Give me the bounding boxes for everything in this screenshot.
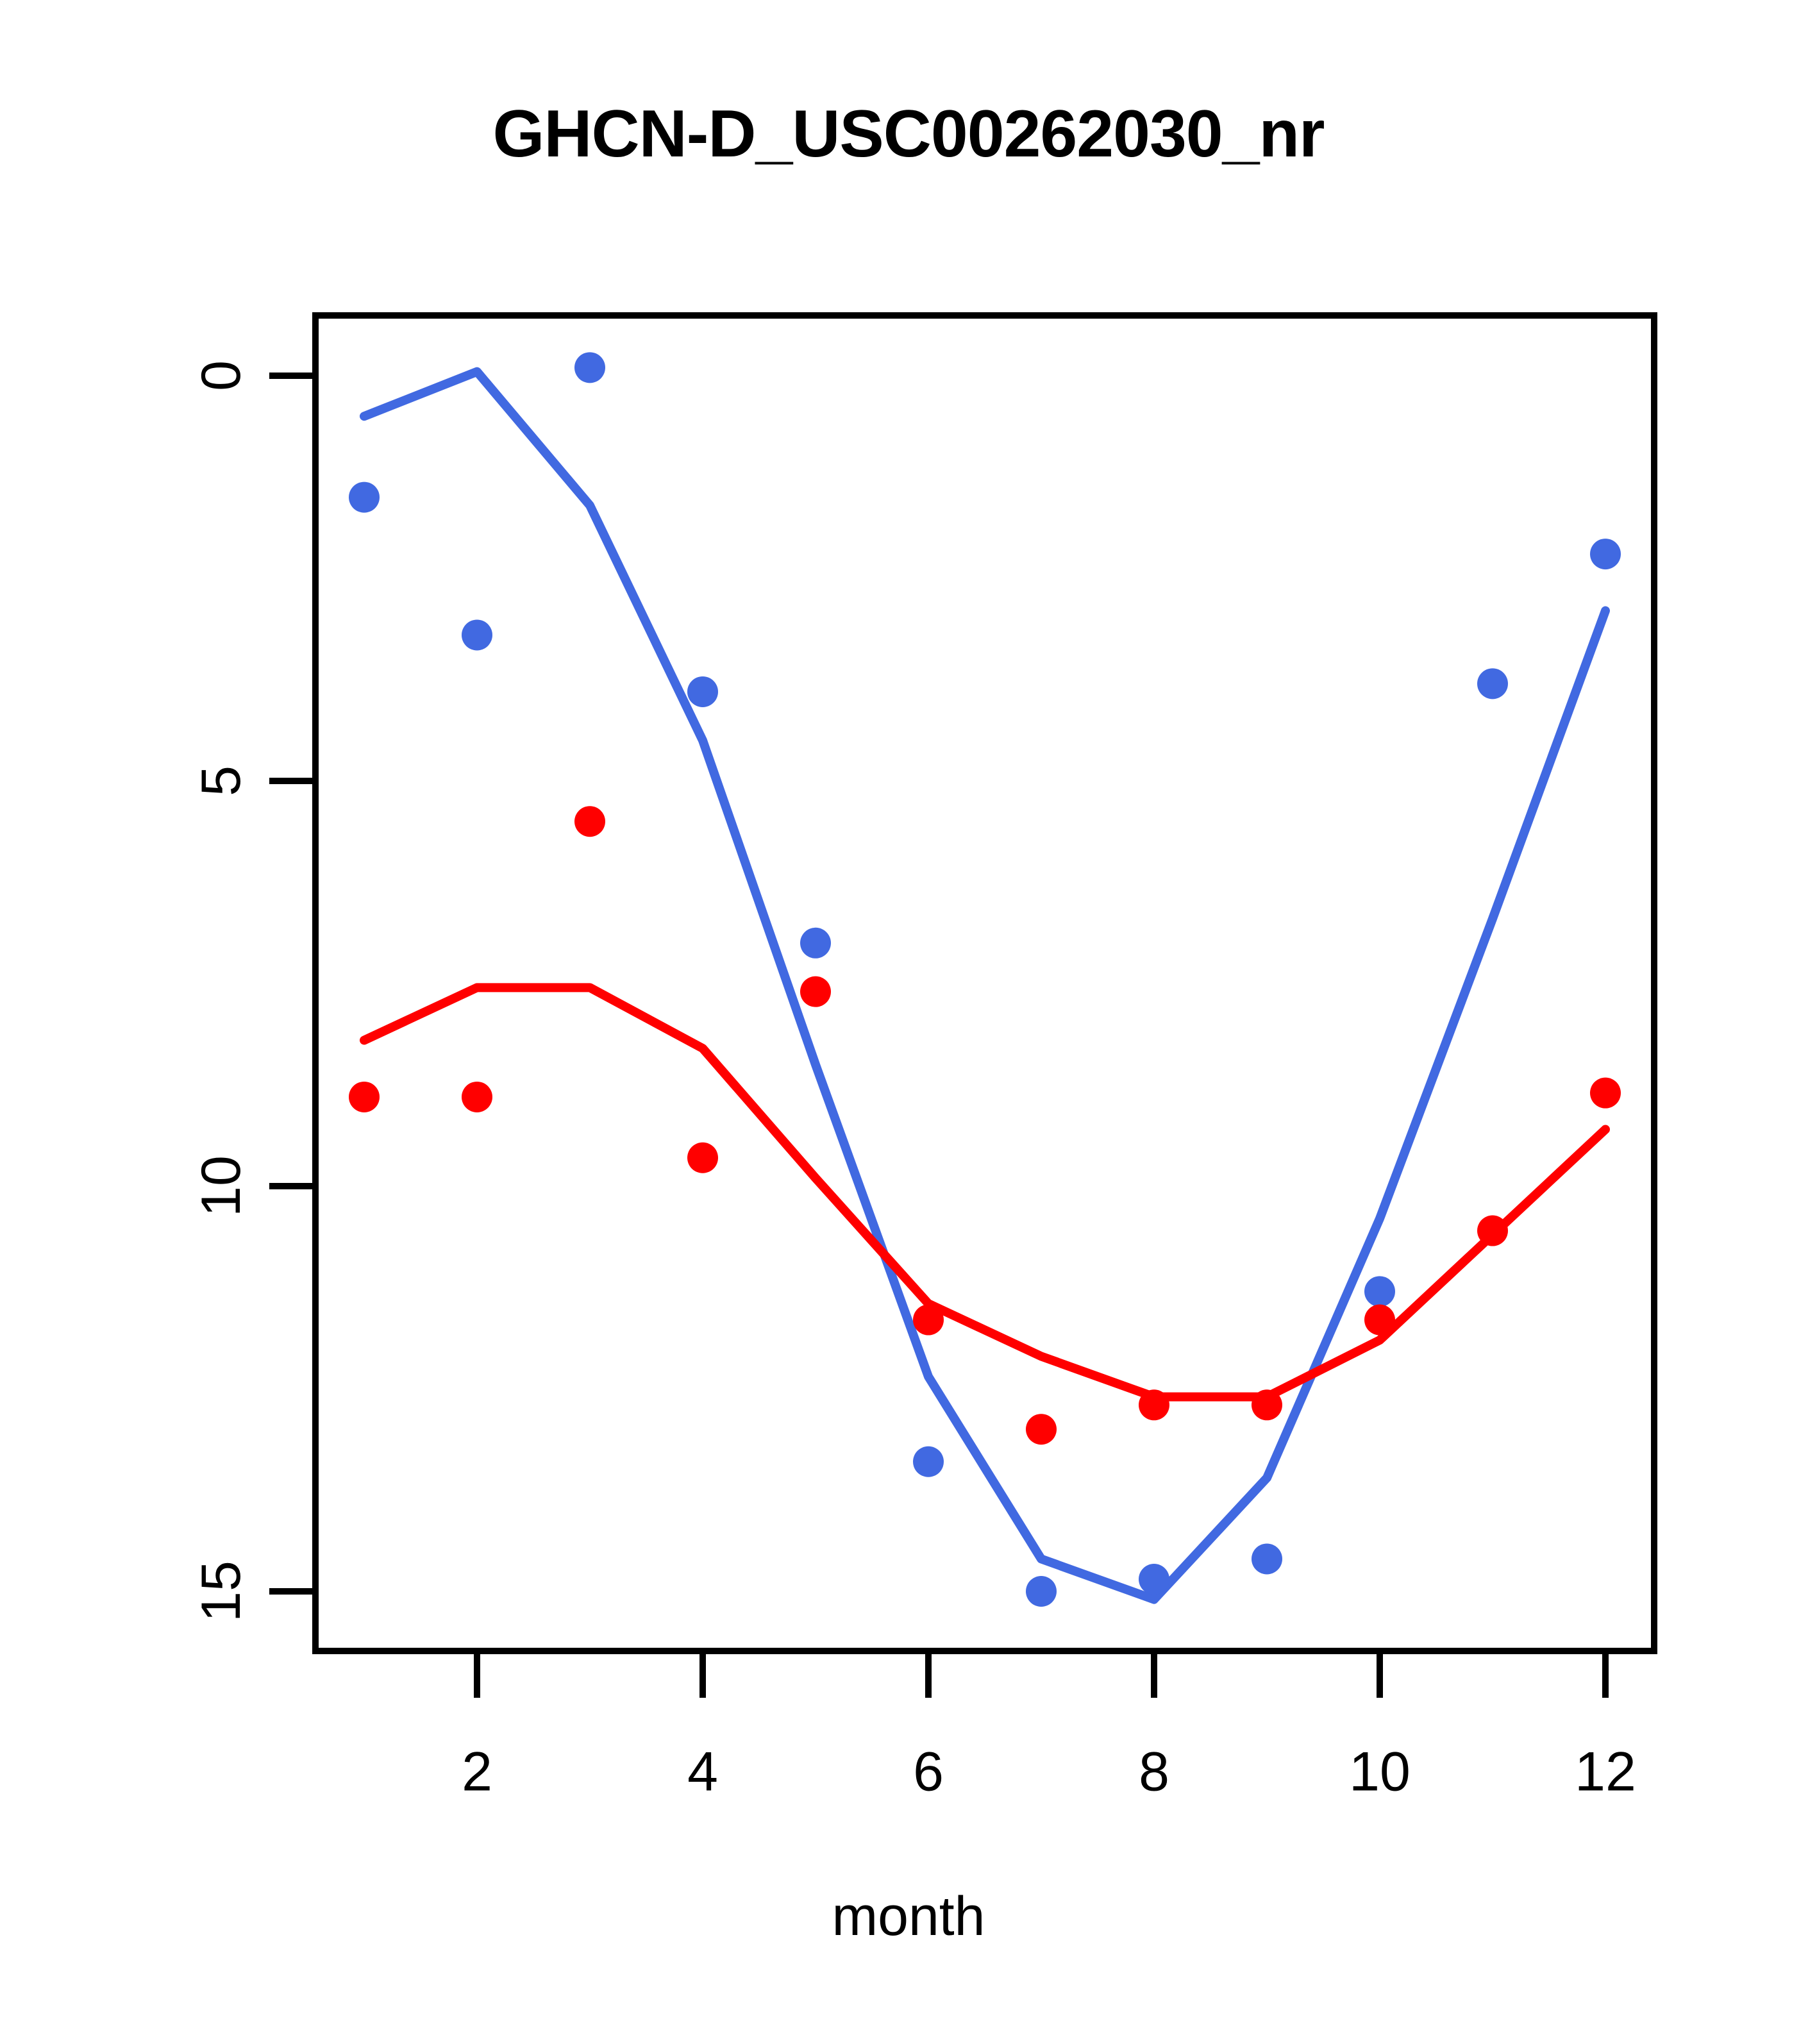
data-point (1252, 1389, 1282, 1420)
data-point (800, 976, 831, 1007)
x-axis-ticks (477, 1651, 1605, 1698)
data-point (574, 806, 605, 837)
data-point (1026, 1576, 1057, 1607)
data-point (574, 352, 605, 383)
scatter-plot-svg: 151050 24681012 (0, 0, 1817, 2044)
y-axis-tick-labels: 151050 (190, 360, 252, 1622)
data-point (800, 928, 831, 959)
data-point (687, 676, 718, 707)
series-points (349, 352, 1621, 1607)
y-axis-ticks (269, 376, 315, 1591)
data-point (913, 1446, 944, 1477)
x-tick-label: 12 (1575, 1741, 1636, 1803)
data-point (687, 1143, 718, 1173)
x-axis-tick-labels: 24681012 (462, 1741, 1636, 1803)
data-point (462, 619, 492, 650)
x-tick-label: 10 (1349, 1741, 1411, 1803)
data-point (1590, 1078, 1621, 1109)
data-point (1139, 1389, 1169, 1420)
data-point (349, 482, 380, 513)
series-line-red-line (364, 987, 1605, 1396)
x-tick-label: 4 (687, 1741, 718, 1803)
y-tick-label: 5 (190, 766, 252, 796)
chart-canvas: GHCN-D_USC00262030_nr 151050 24681012 mo… (0, 0, 1817, 2044)
series-lines (364, 372, 1605, 1600)
data-point (1590, 539, 1621, 569)
data-point (349, 1082, 380, 1112)
x-tick-label: 2 (462, 1741, 492, 1803)
data-point (1364, 1305, 1395, 1336)
data-point (1139, 1564, 1169, 1595)
data-point (1252, 1543, 1282, 1574)
data-point (1364, 1276, 1395, 1307)
x-tick-label: 6 (913, 1741, 944, 1803)
x-axis-title: month (0, 1885, 1817, 1948)
data-point (1477, 668, 1508, 699)
y-tick-label: 0 (190, 360, 252, 391)
y-tick-label: 10 (190, 1155, 252, 1217)
data-point (1477, 1216, 1508, 1246)
data-point (913, 1305, 944, 1336)
data-point (1026, 1414, 1057, 1445)
y-tick-label: 15 (190, 1561, 252, 1622)
data-point (462, 1082, 492, 1112)
x-tick-label: 8 (1139, 1741, 1169, 1803)
